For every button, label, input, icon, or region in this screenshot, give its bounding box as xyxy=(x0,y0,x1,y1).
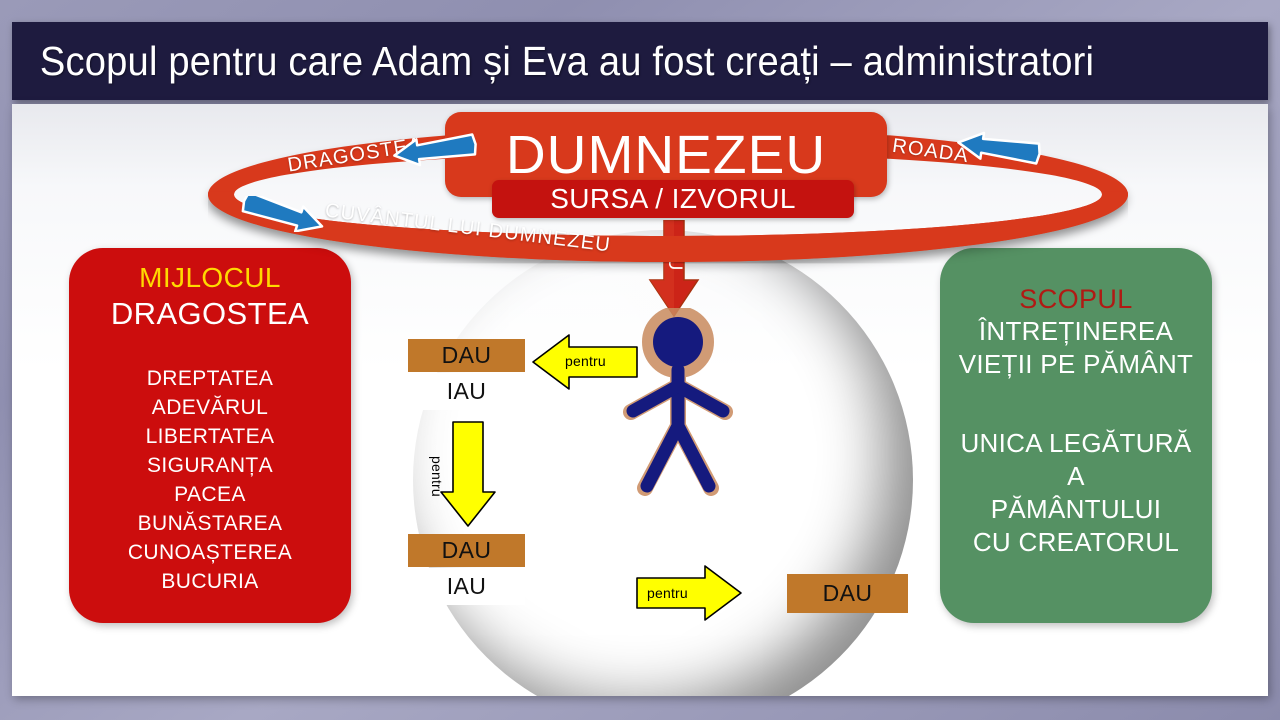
left-panel-title-dragostea: DRAGOSTEA xyxy=(79,296,341,332)
iau-box-2: IAU xyxy=(408,568,525,605)
right-panel-line: ÎNTREȚINEREA xyxy=(950,315,1202,348)
sursa-izvorul-label: SURSA / IZVORUL xyxy=(550,183,796,215)
left-panel-title-mijlocul: MIJLOCUL xyxy=(79,262,341,294)
blue-arrow-right-icon xyxy=(952,130,1044,166)
list-item: SIGURANȚA xyxy=(79,451,341,480)
dau-box-2: DAU xyxy=(408,534,525,567)
right-green-panel: SCOPUL ÎNTREȚINEREA VIEȚII PE PĂMÂNT UNI… xyxy=(940,248,1212,623)
list-item: PACEA xyxy=(79,480,341,509)
dau-box-3: DAU xyxy=(787,574,908,613)
page-title: Scopul pentru care Adam și Eva au fost c… xyxy=(12,41,1094,82)
dau-box-1: DAU xyxy=(408,339,525,372)
right-panel-line: UNICA LEGĂTURĂ A xyxy=(950,427,1202,493)
yellow-arrow-down-icon xyxy=(439,420,497,528)
blue-arrow-left-icon xyxy=(388,132,480,168)
list-item: BUNĂSTAREA xyxy=(79,509,341,538)
right-panel-title-scopul: SCOPUL xyxy=(950,284,1202,315)
right-panel-block-2: UNICA LEGĂTURĂ A PĂMÂNTULUI CU CREATORUL xyxy=(950,427,1202,559)
list-item: ADEVĂRUL xyxy=(79,393,341,422)
slide-title-bar: Scopul pentru care Adam și Eva au fost c… xyxy=(12,22,1268,100)
list-item: CUNOAȘTEREA xyxy=(79,538,341,567)
yellow-arrow-right-icon xyxy=(635,564,745,622)
iau-box-1: IAU xyxy=(408,373,525,410)
list-item: DREPTATEA xyxy=(79,364,341,393)
list-item: LIBERTATEA xyxy=(79,422,341,451)
right-panel-line: CU CREATORUL xyxy=(950,526,1202,559)
yellow-arrow-left-icon xyxy=(529,333,639,391)
right-panel-line: VIEȚII PE PĂMÂNT xyxy=(950,348,1202,381)
right-panel-block-1: ÎNTREȚINEREA VIEȚII PE PĂMÂNT xyxy=(950,315,1202,381)
blue-arrow-bottom-icon xyxy=(238,196,330,232)
slide-content-area: DUMNEZEU SURSA / IZVORUL DRAGOSTEA ROADĂ… xyxy=(12,104,1268,696)
left-red-panel: MIJLOCUL DRAGOSTEA DREPTATEA ADEVĂRUL LI… xyxy=(69,248,351,623)
list-item: BUCURIA xyxy=(79,567,341,596)
left-panel-list: DREPTATEA ADEVĂRUL LIBERTATEA SIGURANȚA … xyxy=(79,364,341,596)
right-panel-line: PĂMÂNTULUI xyxy=(950,493,1202,526)
sursa-izvorul-box: SURSA / IZVORUL xyxy=(492,180,854,218)
